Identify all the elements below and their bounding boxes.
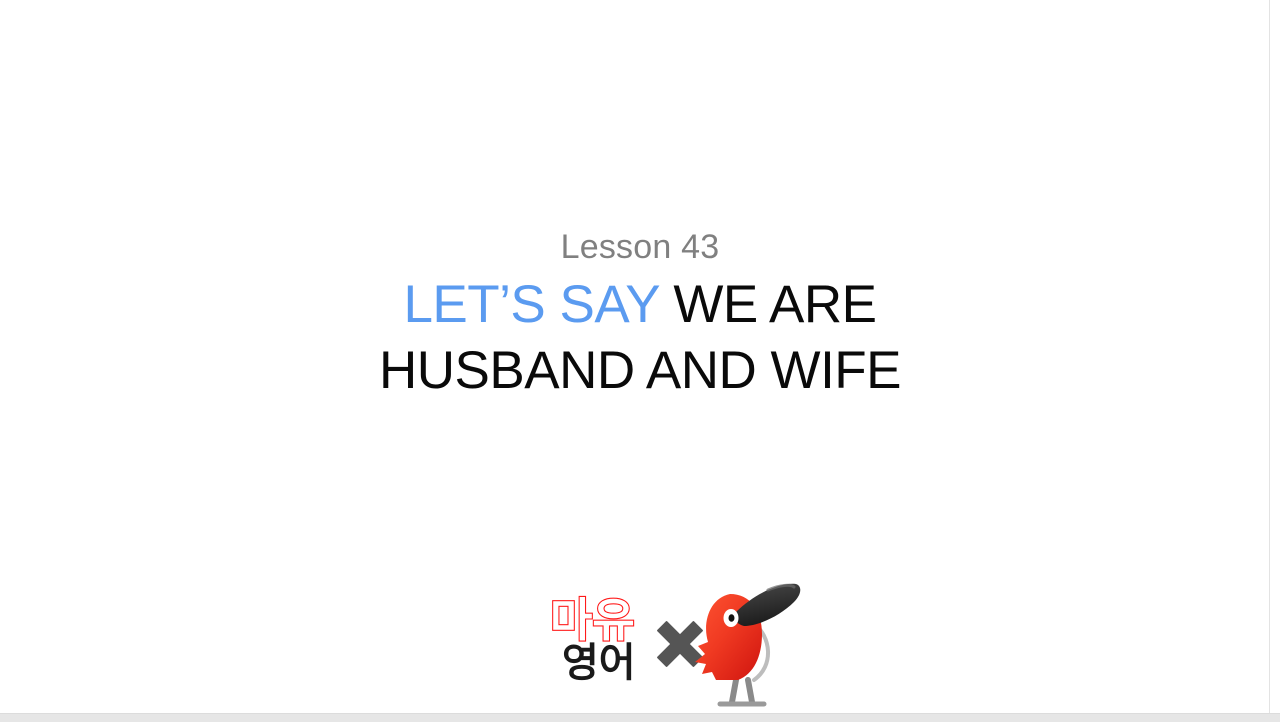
slide-bottom-edge — [0, 713, 1280, 722]
slide-canvas: Lesson 43 LET’S SAY WE ARE HUSBAND AND W… — [0, 0, 1280, 722]
lesson-number-label: Lesson 43 — [0, 226, 1280, 268]
toucan-bird-icon — [695, 584, 800, 704]
svg-text:마유: 마유 — [550, 593, 635, 647]
headline-highlight-phrase: LET’S SAY — [403, 275, 659, 334]
brand-korean-bottom-icon: 영어 — [562, 640, 636, 686]
brand-logo: 마유 영어 — [540, 574, 810, 714]
title-block: Lesson 43 LET’S SAY WE ARE HUSBAND AND W… — [0, 226, 1280, 404]
headline-line-2: HUSBAND AND WIFE — [0, 338, 1280, 404]
headline-line-1: LET’S SAY WE ARE — [0, 272, 1280, 338]
brand-korean-top-icon: 마유 — [550, 593, 635, 647]
svg-text:영어: 영어 — [562, 640, 636, 686]
headline-line-1-rest: WE ARE — [659, 275, 876, 334]
